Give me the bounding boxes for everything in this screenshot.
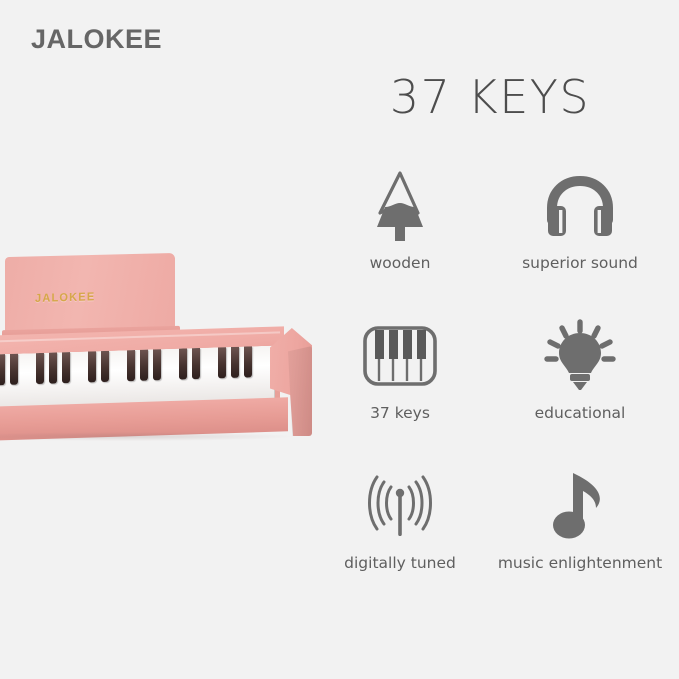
infographic-page: JALOKEE 37 KEYS JALOKEE wooden — [0, 0, 679, 679]
piano-black-key — [179, 348, 187, 379]
piano-keys-icon — [362, 318, 438, 394]
feature-item-digitally-tuned: digitally tuned — [310, 460, 490, 610]
headphones-icon — [542, 168, 618, 244]
product-image: JALOKEE — [0, 250, 333, 450]
piano-black-key — [0, 354, 5, 385]
piano-black-key — [231, 347, 239, 378]
piano-black-key — [10, 354, 18, 385]
feature-label: digitally tuned — [344, 554, 456, 572]
brand-logo: JALOKEE — [31, 24, 162, 55]
lightbulb-icon — [542, 318, 618, 394]
signal-waves-icon — [360, 468, 440, 544]
feature-item-37-keys: 37 keys — [310, 310, 490, 460]
feature-item-music-enlightenment: music enlightenment — [490, 460, 670, 610]
feature-item-wooden: wooden — [310, 160, 490, 310]
feature-label: 37 keys — [370, 404, 430, 422]
feature-label: superior sound — [522, 254, 638, 272]
feature-label: educational — [535, 404, 626, 422]
piano-black-key — [140, 350, 148, 381]
piano-black-key — [127, 350, 135, 381]
feature-label: music enlightenment — [498, 554, 662, 572]
feature-grid: wooden superior sound — [310, 160, 670, 610]
piano-black-key — [49, 352, 57, 383]
piano-black-key — [153, 349, 161, 380]
piano-black-key — [88, 351, 96, 382]
feature-label: wooden — [370, 254, 431, 272]
piano-black-key — [101, 351, 109, 382]
product-drop-shadow — [0, 432, 292, 441]
piano-end-cap-shadow — [288, 346, 312, 436]
piano-black-key — [36, 353, 44, 384]
feature-item-superior-sound: superior sound — [490, 160, 670, 310]
music-note-icon — [546, 468, 614, 544]
piano-stand-brand-logo: JALOKEE — [35, 291, 95, 305]
piano-black-key — [192, 348, 200, 379]
piano-black-key — [218, 347, 226, 378]
tree-icon — [365, 168, 435, 244]
feature-item-educational: educational — [490, 310, 670, 460]
page-title: 37 KEYS — [340, 70, 640, 124]
piano-black-key — [244, 346, 252, 377]
piano-black-key — [62, 352, 70, 383]
